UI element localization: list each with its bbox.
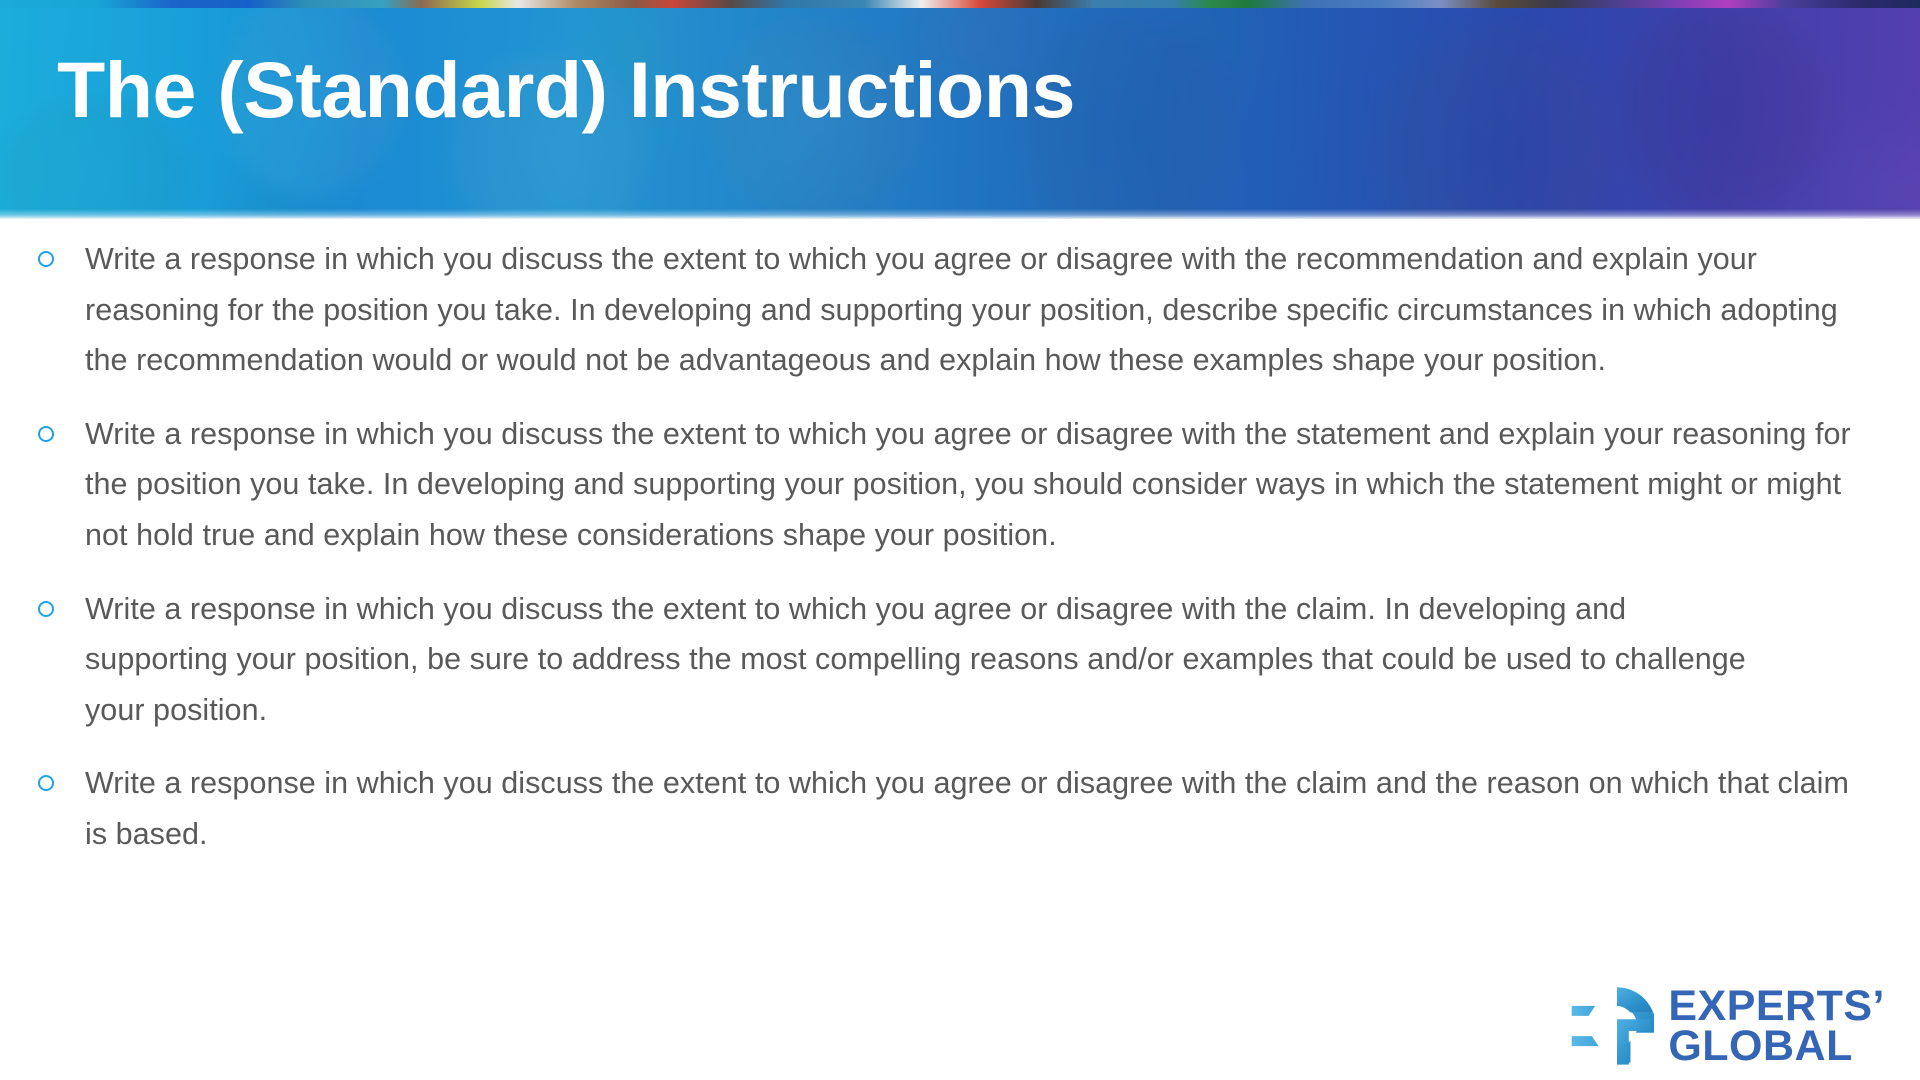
- experts-global-logo: EXPERTS’ GLOBAL: [1570, 984, 1885, 1068]
- slide: The (Standard) Instructions Write a resp…: [0, 0, 1920, 1080]
- experts-global-g-mark-icon: [1570, 984, 1654, 1068]
- logo-line-global: GLOBAL: [1668, 1026, 1885, 1066]
- hollow-circle-bullet-icon: [38, 775, 54, 791]
- list-item-text: Write a response in which you discuss th…: [85, 584, 1775, 736]
- hollow-circle-bullet-icon: [38, 426, 54, 442]
- list-item: Write a response in which you discuss th…: [24, 584, 1890, 736]
- page-title: The (Standard) Instructions: [57, 50, 1075, 129]
- list-item: Write a response in which you discuss th…: [24, 758, 1890, 859]
- hollow-circle-bullet-icon: [38, 601, 54, 617]
- logo-wordmark: EXPERTS’ GLOBAL: [1668, 986, 1885, 1067]
- hollow-circle-bullet-icon: [38, 251, 54, 267]
- list-item: Write a response in which you discuss th…: [24, 409, 1890, 561]
- instructions-bullet-list: Write a response in which you discuss th…: [24, 234, 1890, 860]
- header-bottom-fade: [0, 209, 1920, 219]
- slide-body: Write a response in which you discuss th…: [0, 219, 1920, 1080]
- header-top-color-strip: [0, 0, 1920, 8]
- list-item-text: Write a response in which you discuss th…: [85, 234, 1887, 386]
- logo-line-experts: EXPERTS’: [1668, 986, 1885, 1026]
- list-item: Write a response in which you discuss th…: [24, 234, 1890, 386]
- slide-header-banner: The (Standard) Instructions: [0, 0, 1920, 219]
- list-item-text: Write a response in which you discuss th…: [85, 758, 1875, 859]
- list-item-text: Write a response in which you discuss th…: [85, 409, 1853, 561]
